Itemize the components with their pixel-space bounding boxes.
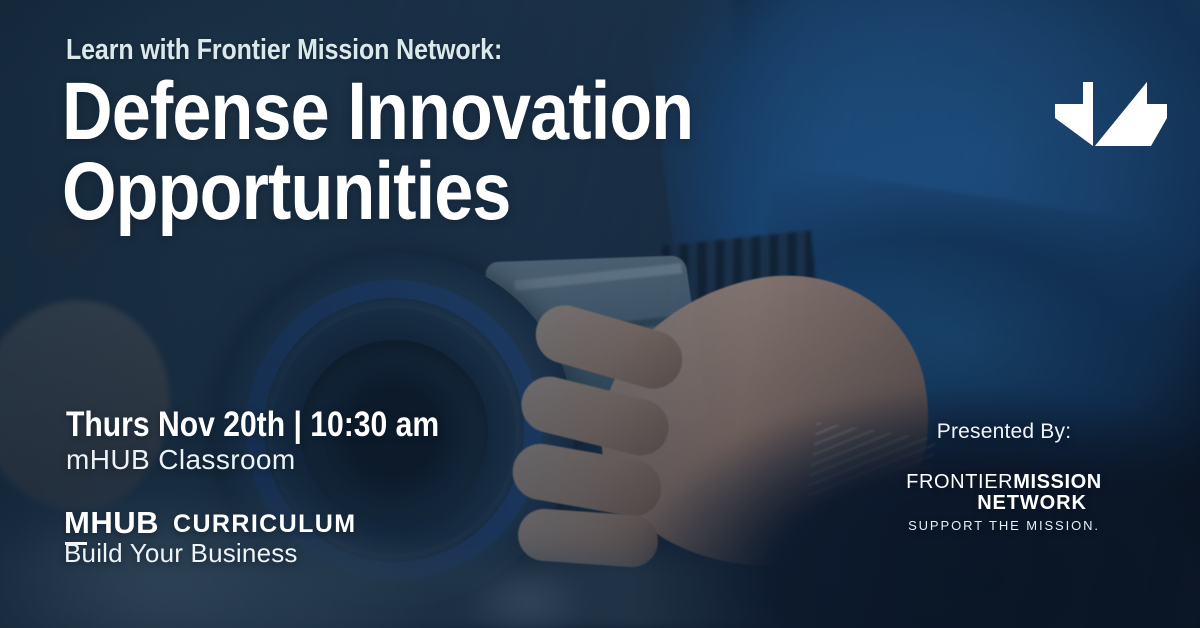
presenter-logo: FRONTIERMISSION NETWORK <box>854 472 1154 514</box>
presenter-name-network: NETWORK <box>854 493 1154 514</box>
event-venue: mHUB Classroom <box>66 444 296 476</box>
eyebrow-text: Learn with Frontier Mission Network: <box>66 34 502 67</box>
event-promo-banner: Learn with Frontier Mission Network: Def… <box>0 0 1200 628</box>
presenter-name-frontier: FRONTIER <box>906 471 1013 493</box>
title-line-1: Defense Innovation <box>62 66 693 157</box>
event-datetime: Thurs Nov 20th | 10:30 am <box>66 405 439 445</box>
mhub-hub-glyphs: HUB <box>90 505 159 541</box>
mhub-tagline: Build Your Business <box>64 538 298 569</box>
presenter-logo-line-1: FRONTIERMISSION <box>854 472 1154 493</box>
presenter-slogan: SUPPORT THE MISSION. <box>854 518 1154 533</box>
page-title: Defense Innovation Opportunities <box>62 72 693 233</box>
banner-content: Learn with Frontier Mission Network: Def… <box>0 0 1200 628</box>
presenter-name-mission: MISSION <box>1013 471 1102 493</box>
frontier-mission-network-chevron-mark-icon <box>1043 80 1167 146</box>
title-line-2: Opportunities <box>62 152 693 232</box>
presented-by-label: Presented By: <box>854 420 1154 444</box>
mhub-program-label: CURRICULUM <box>173 510 356 539</box>
